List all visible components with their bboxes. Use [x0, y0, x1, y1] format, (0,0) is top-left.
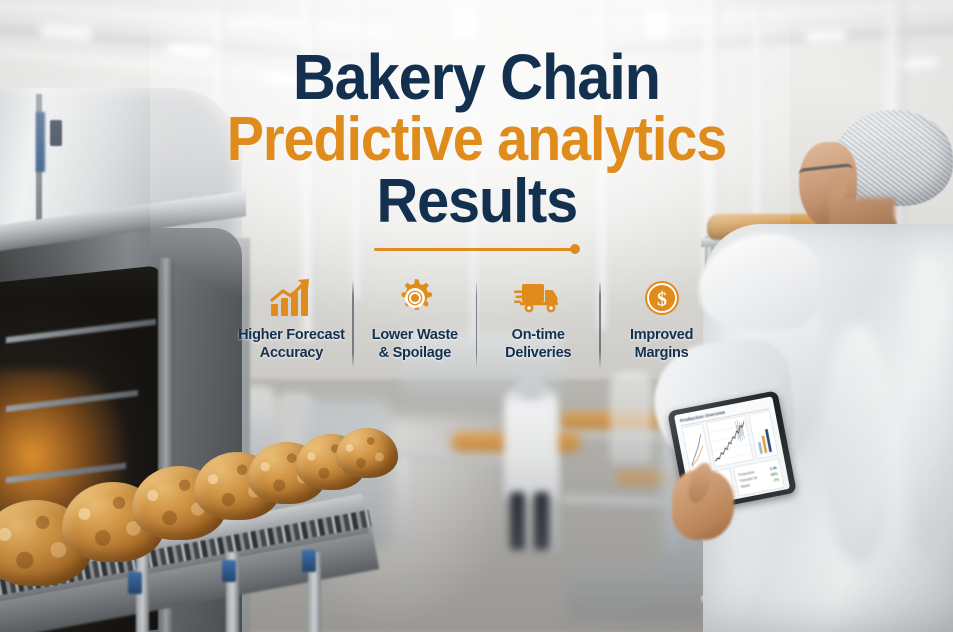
kpi-value: -7% [772, 477, 779, 482]
divider-line [374, 248, 572, 251]
svg-text:$: $ [657, 289, 667, 311]
kpi-label: Waste [740, 483, 750, 489]
background-worker [504, 388, 558, 500]
kpi-value: 1.4k [769, 465, 777, 470]
headline-line-2: Predictive analytics [227, 110, 726, 170]
feature-label-line1: On-time [512, 327, 565, 343]
background-worker-leg [510, 492, 525, 550]
gear-icon [395, 276, 435, 320]
divider-dot [570, 244, 580, 254]
bar-chart-growth-icon [269, 276, 313, 320]
kpi-value: 98% [770, 471, 778, 476]
tablet-side-chart [748, 410, 778, 459]
dollar-coin-icon: $ [643, 276, 681, 320]
feature-improved-margins[interactable]: $ Improved Margins [601, 276, 723, 361]
feature-label-line2: Margins [635, 345, 689, 361]
feature-label-line1: Improved [630, 327, 693, 343]
conveyor-fitting [222, 560, 236, 582]
feature-label: Higher Forecast Accuracy [238, 327, 345, 361]
conveyor-fitting [128, 572, 142, 594]
feature-label-line1: Higher Forecast [238, 327, 345, 343]
feature-label: Lower Waste & Spoilage [372, 327, 458, 361]
feature-lower-waste-spoilage[interactable]: Lower Waste & Spoilage [354, 276, 476, 361]
feature-higher-forecast-accuracy[interactable]: Higher Forecast Accuracy [230, 276, 352, 361]
feature-label-line2: Deliveries [505, 345, 571, 361]
bread-loaf [336, 428, 398, 478]
delivery-truck-icon [514, 276, 562, 320]
feature-label: Improved Margins [630, 327, 693, 361]
poster-canvas: Production Overview [0, 0, 953, 632]
conveyor-fitting [302, 550, 316, 572]
tablet-kpi-list: Production 1.4k Forecast hit 98% Waste -… [733, 458, 785, 496]
feature-label-line2: & Spoilage [379, 345, 451, 361]
tablet-main-line-chart [706, 415, 754, 468]
work-table-leg [398, 455, 407, 547]
feature-label: On-time Deliveries [505, 327, 571, 361]
feature-list: Higher Forecast Accuracy [230, 276, 722, 368]
feature-on-time-deliveries[interactable]: On-time Deliveries [477, 276, 599, 361]
feature-label-line1: Lower Waste [372, 327, 458, 343]
headline-line-1: Bakery Chain [293, 47, 660, 108]
background-worker [610, 372, 652, 464]
headline-line-3: Results [376, 172, 576, 232]
background-worker-leg [534, 492, 549, 550]
poster-content: Bakery Chain Predictive analytics Result… [0, 0, 953, 368]
feature-label-line2: Accuracy [260, 345, 323, 361]
headline-divider [374, 242, 580, 256]
